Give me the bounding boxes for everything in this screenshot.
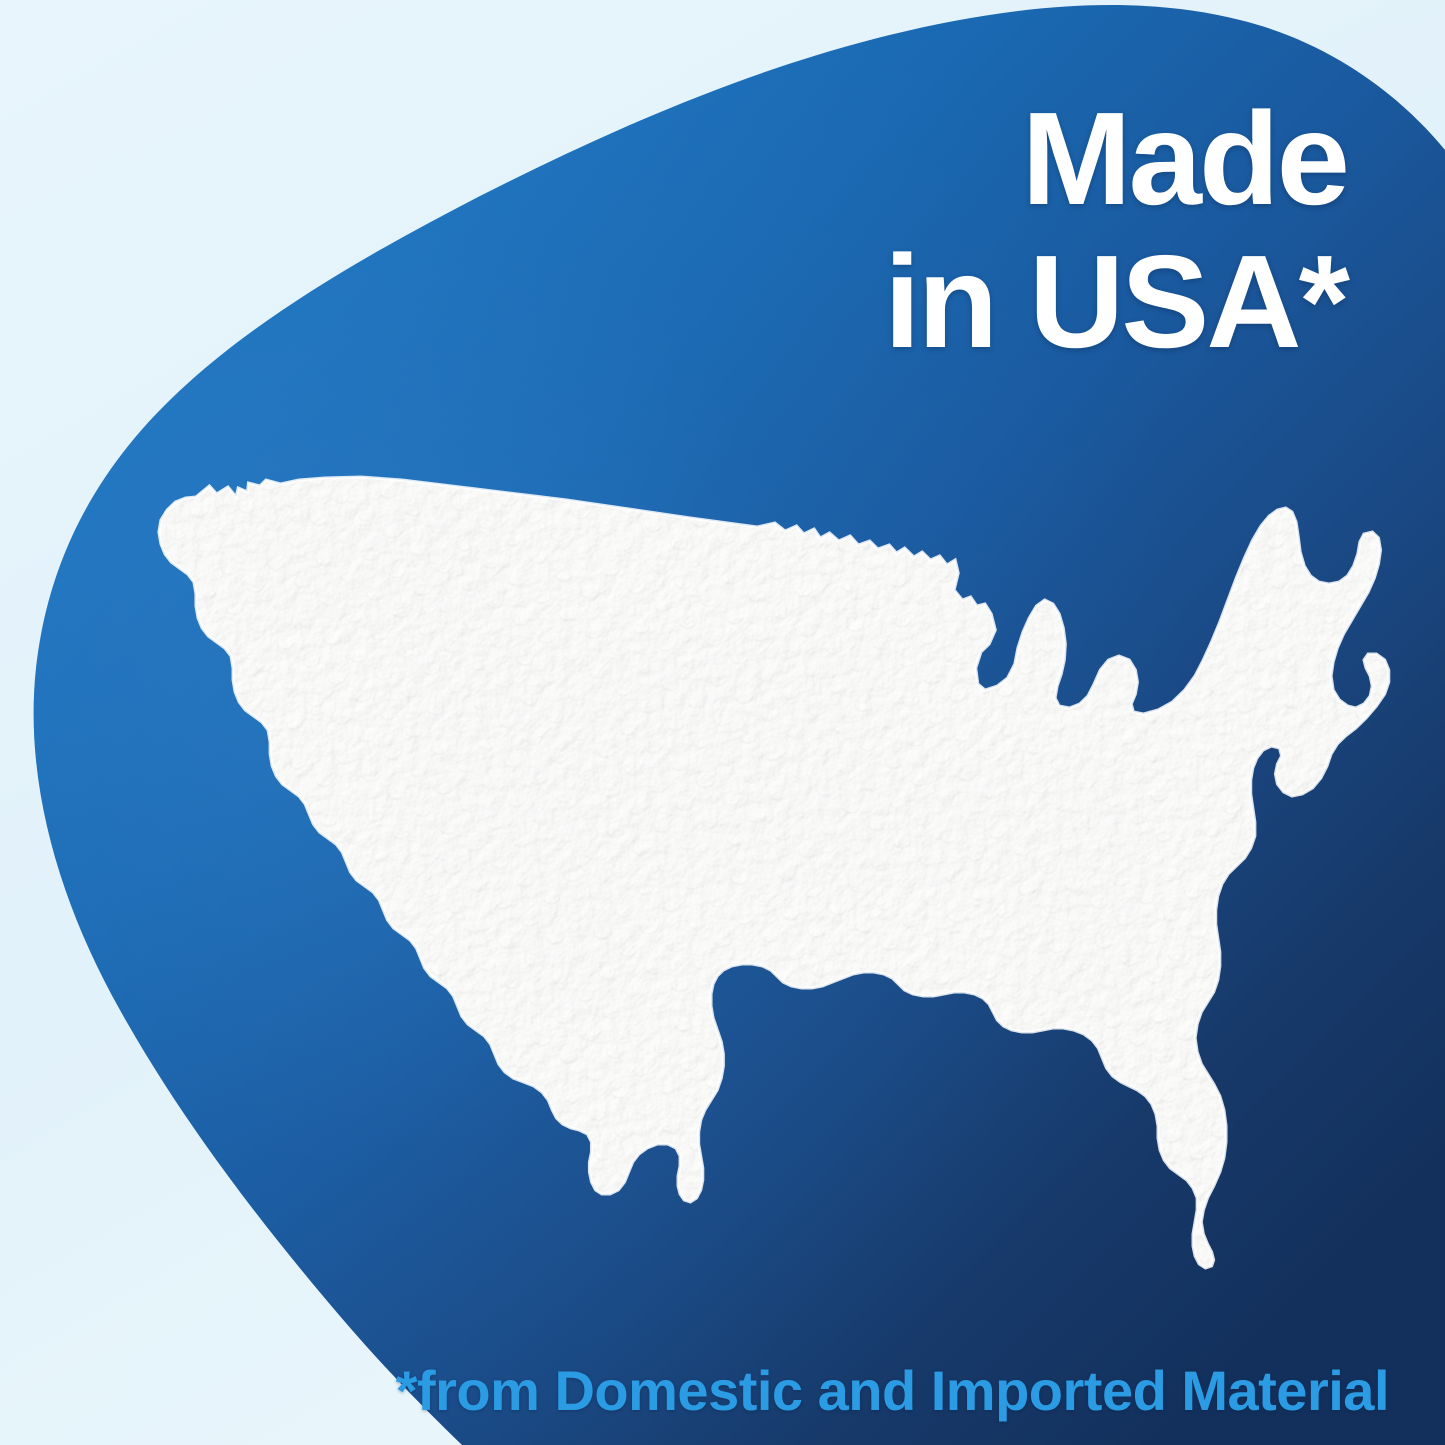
product-badge-graphic: Made in USA* *from Domestic and Imported… [0,0,1445,1445]
headline-line-1: Made [884,88,1347,231]
footnote-disclaimer: *from Domestic and Imported Material [0,1363,1389,1419]
headline-made-in-usa: Made in USA* [884,88,1347,373]
headline-line-2: in USA* [884,231,1347,374]
